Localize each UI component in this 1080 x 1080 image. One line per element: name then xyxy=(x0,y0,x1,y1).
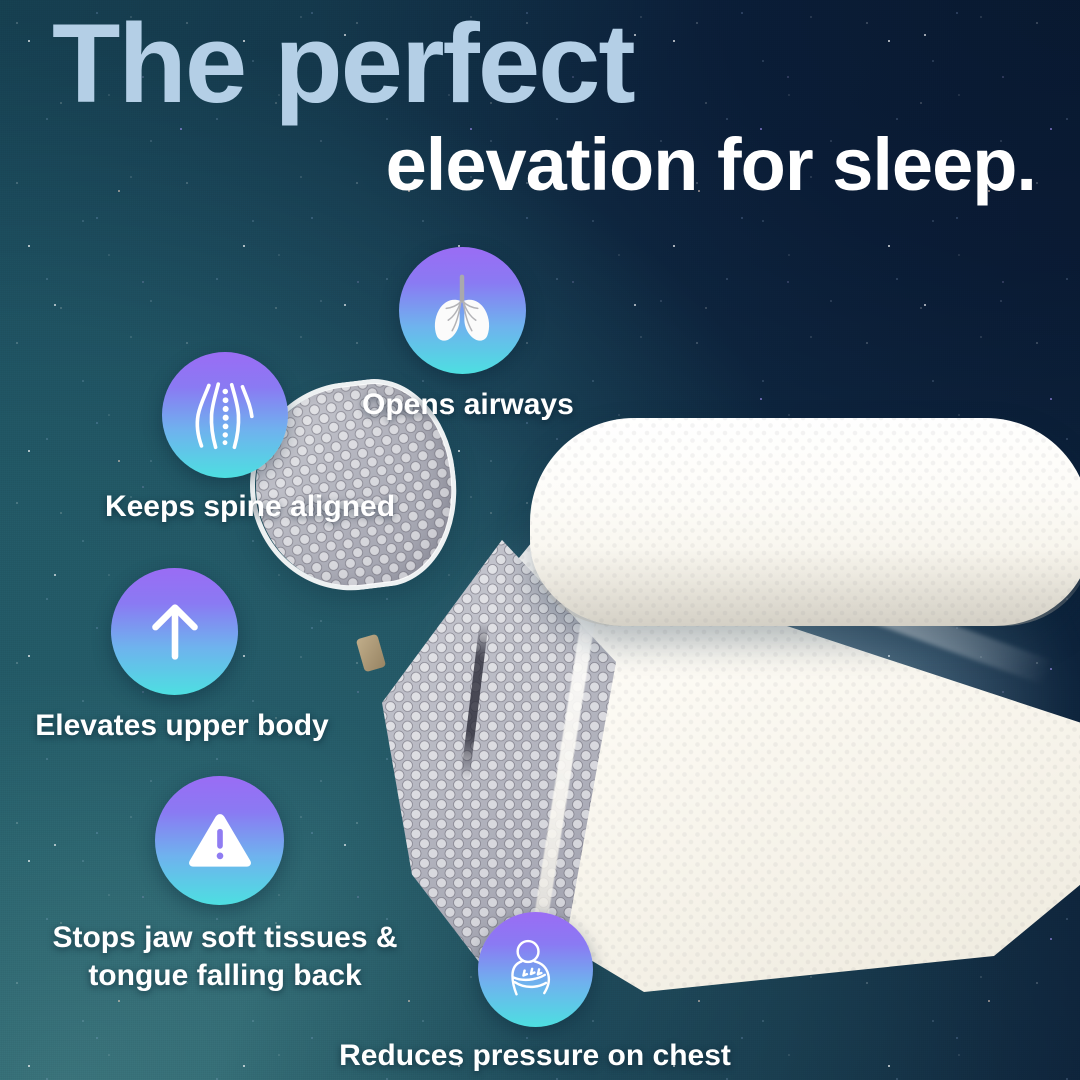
feature-label-keeps-spine-aligned: Keeps spine aligned xyxy=(60,490,440,524)
pillow-top-roll xyxy=(530,418,1080,626)
feature-label-elevates-upper-body: Elevates upper body xyxy=(10,709,354,743)
headline-line-2: elevation for sleep. xyxy=(386,128,1036,202)
warning-triangle-icon xyxy=(155,776,284,905)
feature-reduces-pressure-on-chest: Reduces pressure on chest xyxy=(320,912,750,1073)
spine-icon xyxy=(162,352,288,478)
headline-line-1: The perfect xyxy=(52,8,634,120)
pillow-roll-shading xyxy=(530,548,1080,626)
feature-keeps-spine-aligned: Keeps spine aligned xyxy=(60,352,440,524)
feature-label-reduces-pressure-on-chest: Reduces pressure on chest xyxy=(320,1039,750,1073)
feature-elevates-upper-body: Elevates upper body xyxy=(10,568,354,743)
chest-pain-icon xyxy=(478,912,593,1027)
arrow-up-icon xyxy=(111,568,238,695)
promo-graphic: The perfect elevation for sleep. Opens a… xyxy=(0,0,1080,1080)
